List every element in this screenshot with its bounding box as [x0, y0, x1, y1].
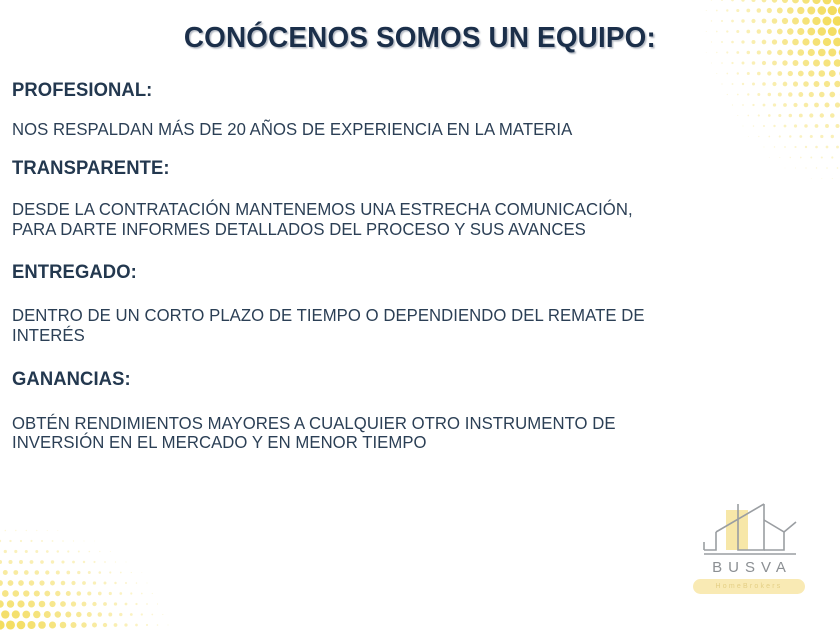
- brand-logo: BUSVA HomeBrokers: [686, 502, 812, 598]
- logo-tagline: HomeBrokers: [716, 583, 783, 590]
- section-transparente: TRANSPARENTE: DESDE LA CONTRATACIÓN MANT…: [12, 158, 812, 240]
- section-entregado: ENTREGADO: DENTRO DE UN CORTO PLAZO DE T…: [12, 262, 812, 346]
- section-text-line: INVERSIÓN EN EL MERCADO Y EN MENOR TIEMP…: [12, 433, 776, 453]
- section-text: DESDE LA CONTRATACIÓN MANTENEMOS UNA EST…: [12, 200, 776, 239]
- building-outline-icon: [686, 502, 812, 560]
- section-text-line: DENTRO DE UN CORTO PLAZO DE TIEMPO O DEP…: [12, 306, 776, 326]
- halftone-dots-icon: [0, 520, 200, 630]
- section-text: DENTRO DE UN CORTO PLAZO DE TIEMPO O DEP…: [12, 306, 776, 345]
- section-text-line: NOS RESPALDAN MÁS DE 20 AÑOS DE EXPERIEN…: [12, 120, 776, 140]
- section-text-line: OBTÉN RENDIMIENTOS MAYORES A CUALQUIER O…: [12, 414, 776, 434]
- section-heading: PROFESIONAL:: [12, 80, 788, 102]
- section-text-line: DESDE LA CONTRATACIÓN MANTENEMOS UNA EST…: [12, 200, 776, 220]
- section-heading: ENTREGADO:: [12, 262, 788, 284]
- section-text-line: PARA DARTE INFORMES DETALLADOS DEL PROCE…: [12, 220, 776, 240]
- section-text: NOS RESPALDAN MÁS DE 20 AÑOS DE EXPERIEN…: [12, 120, 776, 140]
- title-container: CONÓCENOS SOMOS UN EQUIPO:: [0, 22, 840, 55]
- section-heading: TRANSPARENTE:: [12, 158, 788, 180]
- content-body: PROFESIONAL: NOS RESPALDAN MÁS DE 20 AÑO…: [12, 80, 812, 453]
- section-profesional: PROFESIONAL: NOS RESPALDAN MÁS DE 20 AÑO…: [12, 80, 812, 140]
- logo-wordmark: BUSVA: [686, 560, 812, 575]
- section-text-line: INTERÉS: [12, 326, 776, 346]
- section-text: OBTÉN RENDIMIENTOS MAYORES A CUALQUIER O…: [12, 414, 776, 453]
- section-ganancias: GANANCIAS: OBTÉN RENDIMIENTOS MAYORES A …: [12, 369, 812, 453]
- page-title: CONÓCENOS SOMOS UN EQUIPO:: [184, 22, 656, 55]
- logo-tagline-bar: HomeBrokers: [693, 579, 805, 594]
- slide-canvas: CONÓCENOS SOMOS UN EQUIPO: PROFESIONAL: …: [0, 0, 840, 630]
- section-heading: GANANCIAS:: [12, 369, 788, 391]
